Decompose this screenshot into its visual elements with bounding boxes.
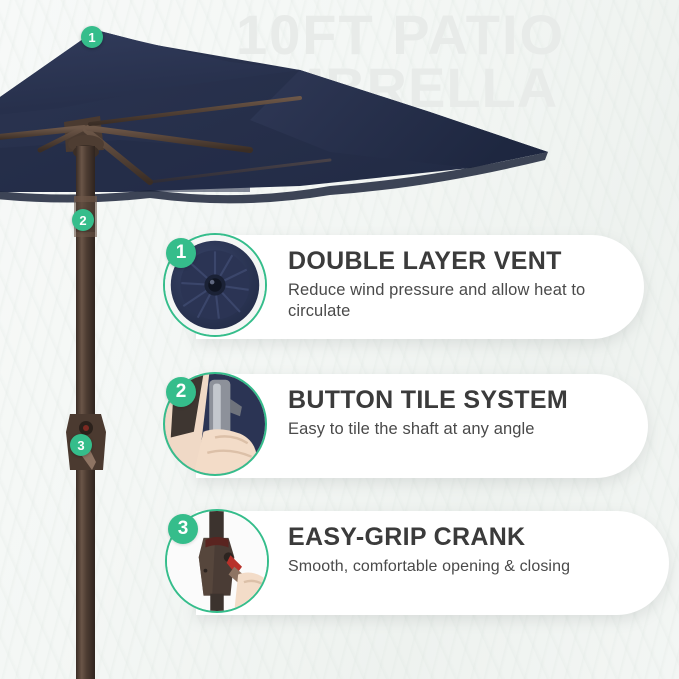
watermark-line-1: 10FT PATIO (236, 8, 679, 61)
pole-joint-lower (74, 232, 97, 237)
hub-collar-lower (73, 145, 99, 159)
feature-description: Reduce wind pressure and allow heat to c… (288, 280, 620, 324)
feature-title: EASY-GRIP CRANK (288, 523, 645, 553)
feature-description: Smooth, comfortable opening & closing (288, 556, 645, 577)
feature-description: Easy to tile the shaft at any angle (288, 419, 624, 441)
infographic-canvas: 10FT PATIO UMBRELLA (0, 0, 679, 679)
canopy-hub (64, 116, 104, 152)
feature-number-badge-1: 1 (166, 238, 196, 268)
crank-hub (79, 421, 93, 435)
hub-collar (68, 135, 104, 153)
feature-card-text: BUTTON TILE SYSTEM Easy to tile the shaf… (288, 386, 624, 440)
feature-card-text: EASY-GRIP CRANK Smooth, comfortable open… (288, 523, 645, 577)
watermark-line-2: UMBRELLA (236, 61, 679, 114)
canopy-left-shade (0, 140, 250, 192)
pole-joint-upper (74, 196, 97, 202)
product-marker-1[interactable]: 1 (81, 26, 103, 48)
crank-hub-center (83, 425, 89, 431)
feature-title: BUTTON TILE SYSTEM (288, 386, 624, 416)
canopy-scallop-edge (0, 152, 548, 203)
feature-number-badge-2: 2 (166, 377, 196, 407)
feature-title: DOUBLE LAYER VENT (288, 247, 620, 277)
feature-card-text: DOUBLE LAYER VENT Reduce wind pressure a… (288, 247, 620, 323)
watermark-text: 10FT PATIO UMBRELLA (236, 8, 679, 114)
feature-number-badge-3: 3 (168, 514, 198, 544)
product-marker-2[interactable]: 2 (72, 209, 94, 231)
product-marker-3[interactable]: 3 (70, 434, 92, 456)
